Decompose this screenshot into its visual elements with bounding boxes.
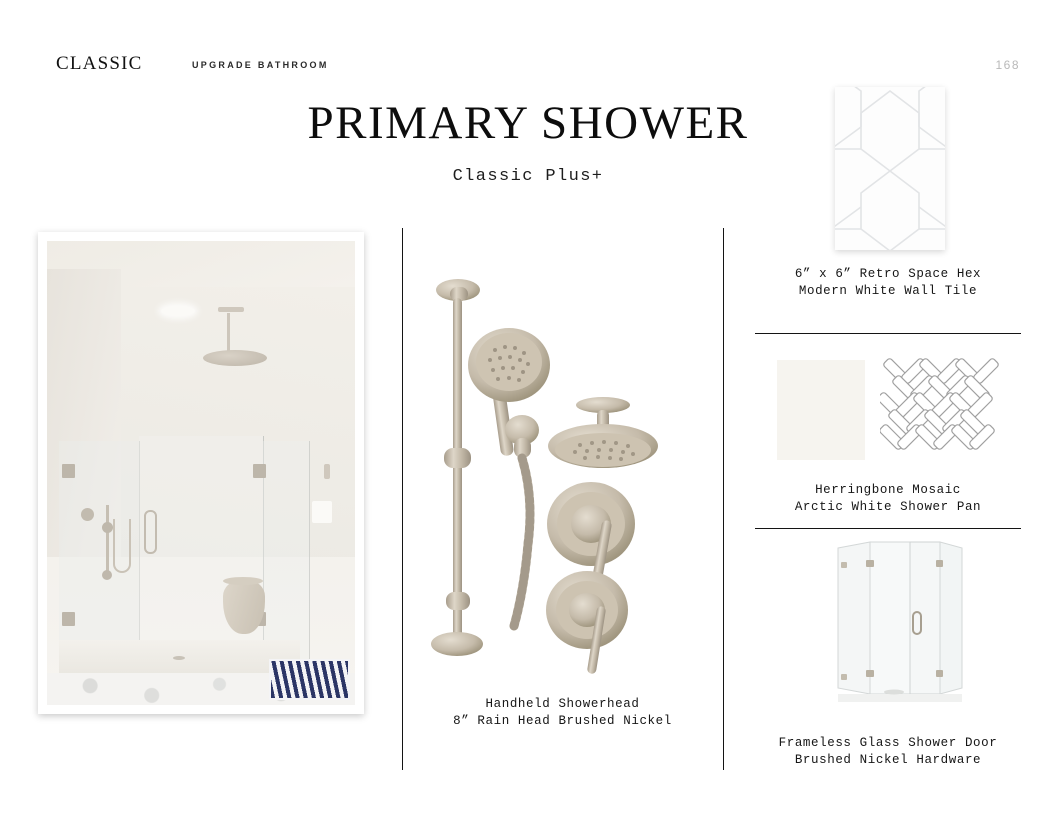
photo-rain-arm-flange xyxy=(218,307,244,312)
caption-wall-tile: 6” x 6” Retro Space Hex Modern White Wal… xyxy=(740,266,1036,300)
caption-fixtures: Handheld Showerhead 8” Rain Head Brushed… xyxy=(402,696,723,730)
photo-recessed-light xyxy=(161,306,195,316)
photo-glass-clip xyxy=(62,464,75,478)
section-label: UPGRADE BATHROOM xyxy=(192,60,329,70)
ceiling-mount-rain-showerhead xyxy=(548,397,658,468)
slide-bar-handheld-showerhead xyxy=(431,279,550,656)
photo-striped-bath-rug xyxy=(269,659,350,700)
frameless-glass-shower-door-image xyxy=(822,534,972,712)
photo-glass-panel-right xyxy=(263,441,310,673)
herringbone-pattern-icon xyxy=(880,358,1020,463)
divider-horizontal-lower xyxy=(755,528,1021,529)
divider-horizontal-upper xyxy=(755,333,1021,334)
wall-tile-swatch xyxy=(835,87,945,250)
hero-photo-frame xyxy=(38,232,364,714)
divider-vertical-right xyxy=(723,228,724,770)
photo-shower-valve xyxy=(81,508,94,521)
herringbone-mosaic-swatch xyxy=(880,358,1020,463)
arctic-white-paint-swatch xyxy=(777,360,865,460)
photo-rain-arm xyxy=(227,313,230,351)
photo-slide-bar xyxy=(106,505,109,573)
fixtures-group xyxy=(410,262,715,682)
photo-door-handle xyxy=(144,510,157,554)
hex-tile-pattern-icon xyxy=(835,87,945,250)
photo-ceiling-rain-head xyxy=(203,350,267,366)
photo-soap-bottle xyxy=(324,464,330,479)
page-number: 168 xyxy=(995,58,1020,72)
fixtures-illustration xyxy=(410,262,715,682)
caption-shower-pan: Herringbone Mosaic Arctic White Shower P… xyxy=(740,482,1036,516)
primary-shower-room-photo xyxy=(47,241,355,705)
photo-shower-hose xyxy=(113,519,131,573)
caption-shower-door: Frameless Glass Shower Door Brushed Nick… xyxy=(740,735,1036,769)
photo-glass-clip xyxy=(62,612,75,626)
photo-glass-clip xyxy=(253,464,266,478)
slide-canvas: CLASSIC UPGRADE BATHROOM 168 PRIMARY SHO… xyxy=(0,0,1056,816)
photo-wall-niche xyxy=(312,501,332,523)
shower-enclosure-icon xyxy=(822,534,972,712)
brand-label: CLASSIC xyxy=(56,53,143,75)
divider-vertical-left xyxy=(402,228,403,770)
valve-trim-lever-handle-lower xyxy=(546,571,628,674)
photo-ceramic-vessel xyxy=(223,580,265,634)
